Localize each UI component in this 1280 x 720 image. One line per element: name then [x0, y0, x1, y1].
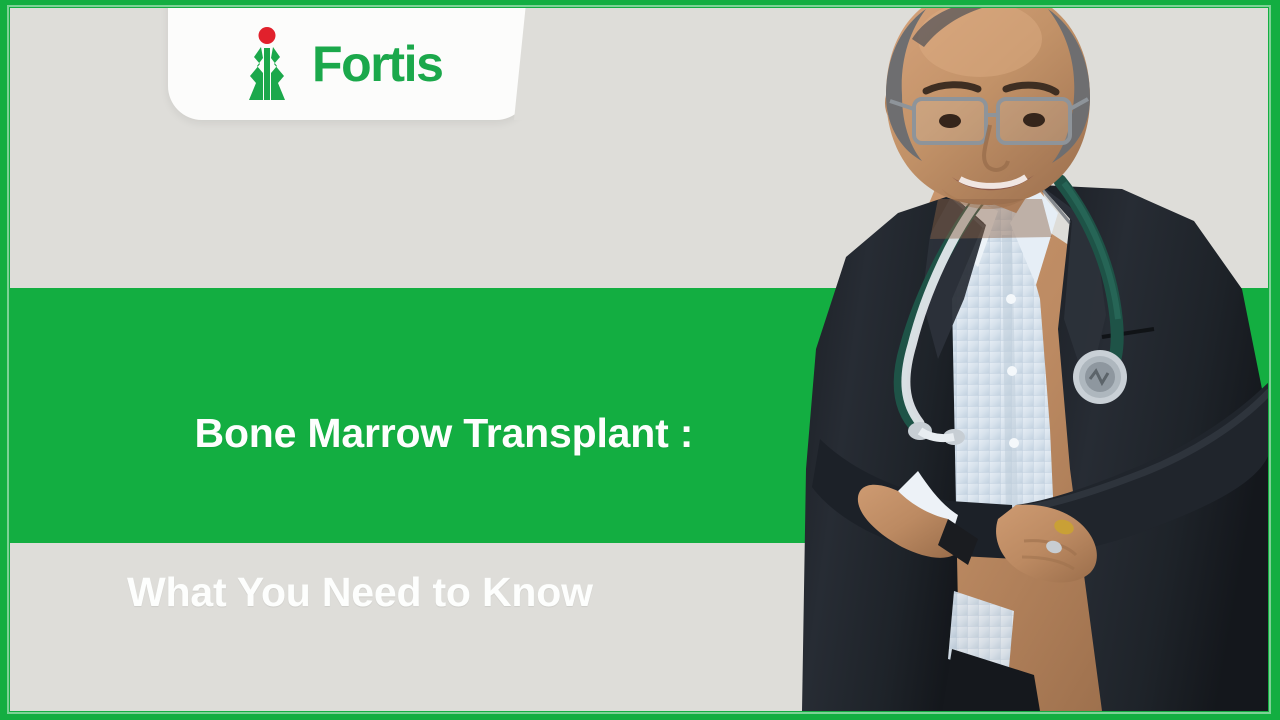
doctor-portrait-icon: [802, 8, 1268, 711]
page-title: Bone Marrow Transplant : What You Need t…: [105, 354, 693, 711]
title-line-2: What You Need to Know: [105, 566, 693, 619]
video-thumbnail: Bone Marrow Transplant : What You Need t…: [0, 0, 1280, 720]
thumbnail-stage: Bone Marrow Transplant : What You Need t…: [10, 8, 1268, 711]
fortis-figure-icon: [236, 26, 298, 102]
brand-wordmark: Fortis: [312, 39, 443, 89]
title-line-1: Bone Marrow Transplant :: [195, 410, 694, 456]
brand-logo-card: Fortis: [168, 8, 530, 120]
brand-logo: Fortis: [168, 8, 530, 120]
